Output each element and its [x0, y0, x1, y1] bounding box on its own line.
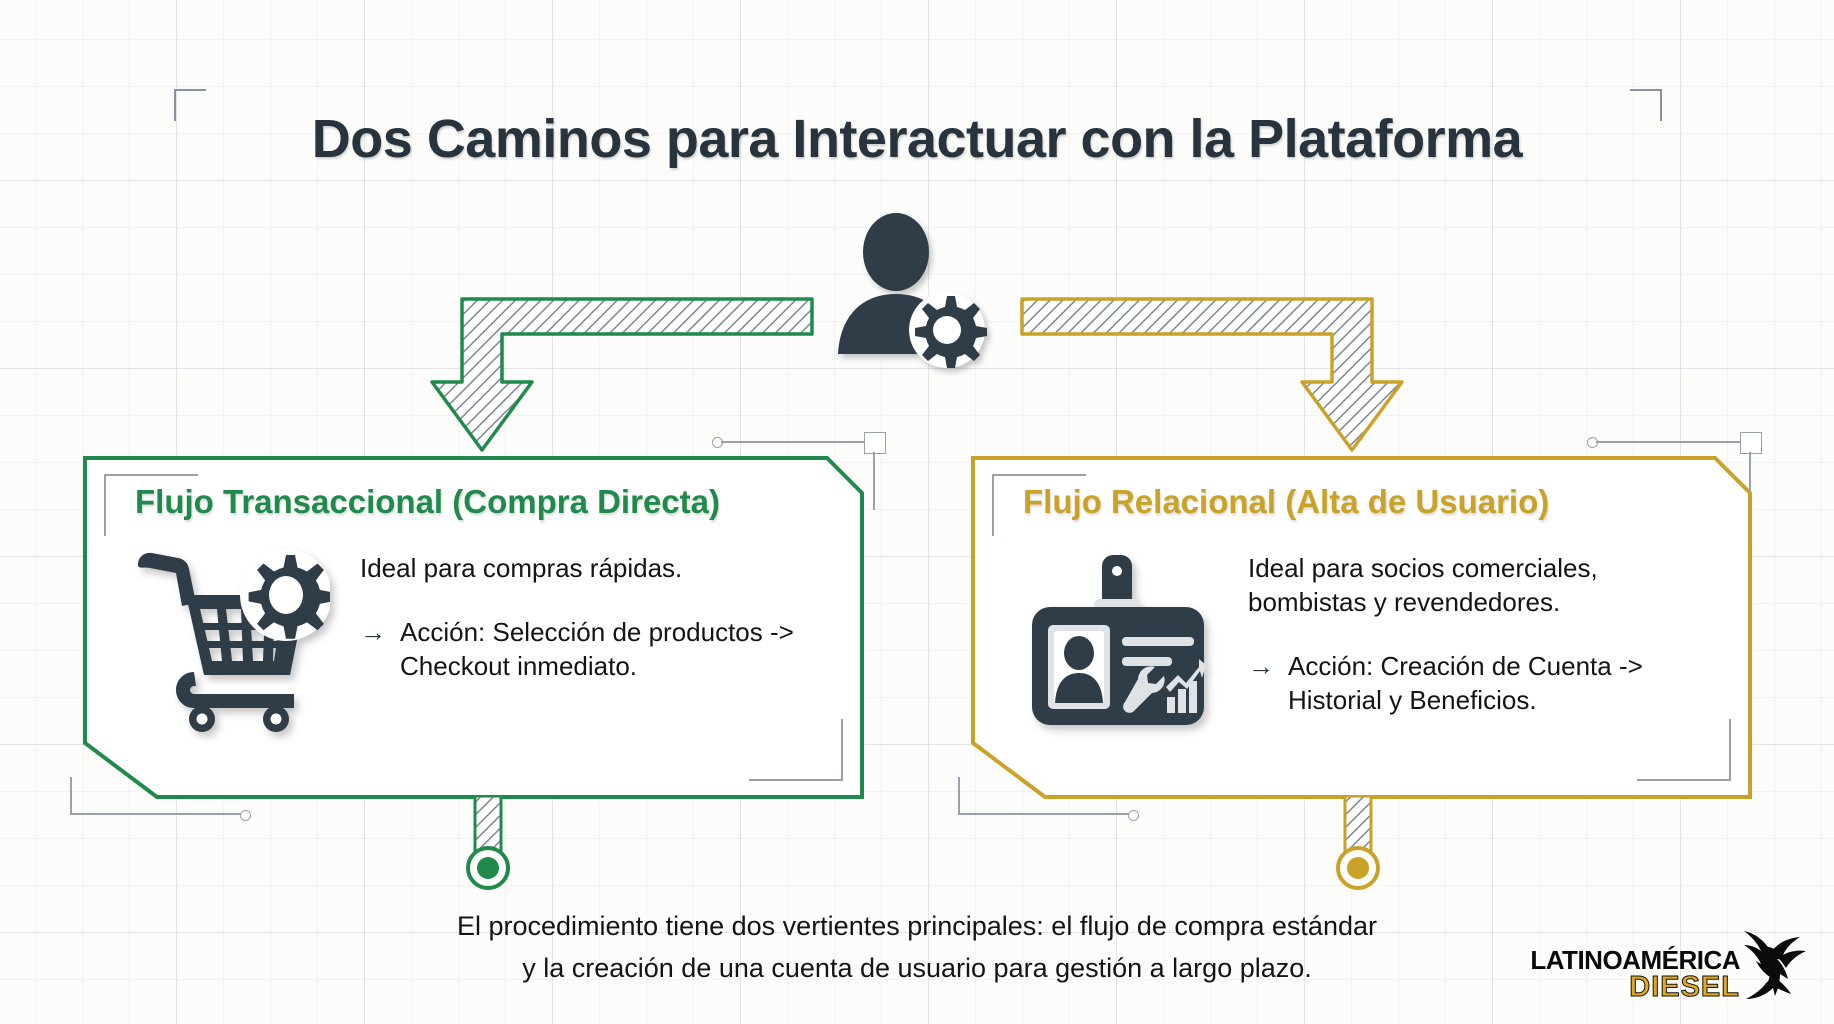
page-title: Dos Caminos para Interactuar con la Plat… [0, 108, 1834, 170]
card-transactional[interactable]: Flujo Transaccional (Compra Directa) [82, 455, 865, 800]
card-outer-bracket-left-hline [70, 813, 245, 815]
card-action-transactional: → Acción: Selección de productos -> Chec… [360, 615, 830, 683]
brand-logo: LATINOAMÉRICA DIESEL [1500, 935, 1810, 1013]
card-title-transactional: Flujo Transaccional (Compra Directa) [135, 483, 720, 521]
card-outer-bracket-right-dot [1128, 810, 1139, 821]
annotation-vline-left-card [873, 452, 875, 510]
id-badge-icon [1018, 547, 1218, 732]
connector-left [455, 796, 521, 906]
logo-text-bottom: DIESEL [1500, 971, 1740, 1004]
card-body-transactional: Ideal para compras rápidas. → Acción: Se… [360, 551, 830, 683]
card-title-relational: Flujo Relacional (Alta de Usuario) [1023, 483, 1549, 521]
action-arrow-icon: → [1248, 649, 1274, 717]
action-arrow-icon: → [360, 615, 386, 683]
connector-right [1325, 796, 1391, 906]
card-outer-bracket-left-vline [70, 777, 72, 815]
card-inner-bracket-bottomright [1637, 719, 1731, 781]
flow-arrow-right [1022, 299, 1402, 450]
card-inner-bracket-bottomright [749, 719, 843, 781]
card-outer-bracket-right-hline [958, 813, 1133, 815]
annotation-square-left-card [864, 432, 886, 454]
shopping-cart-gear-icon [130, 547, 330, 732]
card-lead-transactional: Ideal para compras rápidas. [360, 551, 830, 585]
annotation-square-right-card [1740, 432, 1762, 454]
card-body-relational: Ideal para socios comerciales, bombistas… [1248, 551, 1718, 717]
card-action-text-relational: Acción: Creación de Cuenta -> Historial … [1288, 649, 1718, 717]
user-gear-icon [828, 212, 988, 372]
card-outer-bracket-left-dot [240, 810, 251, 821]
eagle-icon [1708, 917, 1813, 1012]
slide-canvas: Dos Caminos para Interactuar con la Plat… [0, 0, 1834, 1024]
card-outer-bracket-right-vline [958, 777, 960, 815]
annotation-line-right-card [1596, 441, 1742, 443]
annotation-line-left-card [721, 441, 867, 443]
flow-arrow-left [432, 299, 812, 450]
card-relational[interactable]: Flujo Relacional (Alta de Usuario) [970, 455, 1753, 800]
card-action-relational: → Acción: Creación de Cuenta -> Historia… [1248, 649, 1718, 717]
card-action-text-transactional: Acción: Selección de productos -> Checko… [400, 615, 830, 683]
card-lead-relational: Ideal para socios comerciales, bombistas… [1248, 551, 1718, 619]
